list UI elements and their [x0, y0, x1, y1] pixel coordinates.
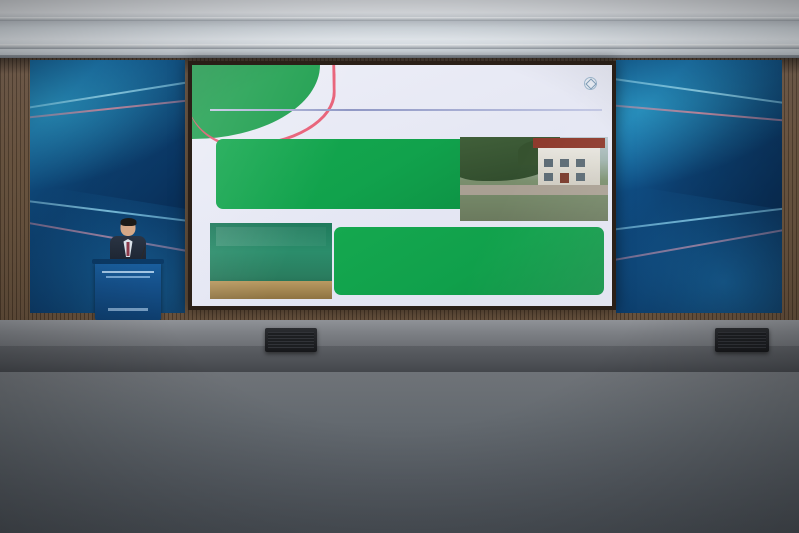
podium-emblem: [108, 308, 148, 311]
stage-monitor-speaker: [265, 328, 317, 352]
slide-photo-village-inspection: [460, 137, 608, 221]
presentation-screen-frame: [188, 61, 616, 310]
speaker-hair: [120, 218, 136, 226]
presentation-slide: [192, 65, 612, 306]
ceiling-beam: [0, 17, 799, 21]
led-panel-right: [616, 60, 782, 313]
stage-floor: [0, 320, 799, 346]
led-light-sweep: [30, 65, 185, 125]
stage-led-text-strip: [0, 350, 799, 368]
led-banner-text-left: [30, 128, 185, 135]
university-branding: [584, 77, 600, 90]
led-light-sweep: [616, 209, 782, 280]
stage-monitor-speaker: [715, 328, 769, 352]
podium-area: [95, 228, 161, 320]
photo-stage-floor: [210, 281, 332, 299]
audience-floor: [0, 372, 799, 533]
photo-event-banner: [216, 227, 326, 246]
slide-text-block-1: [216, 139, 496, 209]
speaker-tie: [127, 242, 130, 256]
scau-seal-icon: [584, 77, 597, 90]
speaker-head: [121, 219, 136, 236]
led-light-sweep: [616, 194, 782, 245]
ceiling: [0, 0, 799, 58]
photo-award-recipients: [214, 248, 328, 282]
led-banner-text-right: [616, 128, 782, 135]
speaker-podium: [95, 262, 161, 320]
slide-corner-arc: [192, 65, 337, 148]
slide-text-block-2: [334, 227, 604, 295]
ceiling-beam: [0, 44, 799, 49]
speaker-grill: [718, 332, 766, 348]
speaker-grill: [268, 332, 314, 348]
photo-people-group: [460, 191, 608, 221]
slide-title-underline: [210, 109, 602, 111]
podium-top: [92, 259, 164, 264]
podium-title-line: [102, 271, 154, 273]
podium-subtitle-line: [106, 276, 150, 278]
conference-hall-photo: [0, 0, 799, 533]
slide-photo-award-ceremony: [210, 223, 332, 299]
